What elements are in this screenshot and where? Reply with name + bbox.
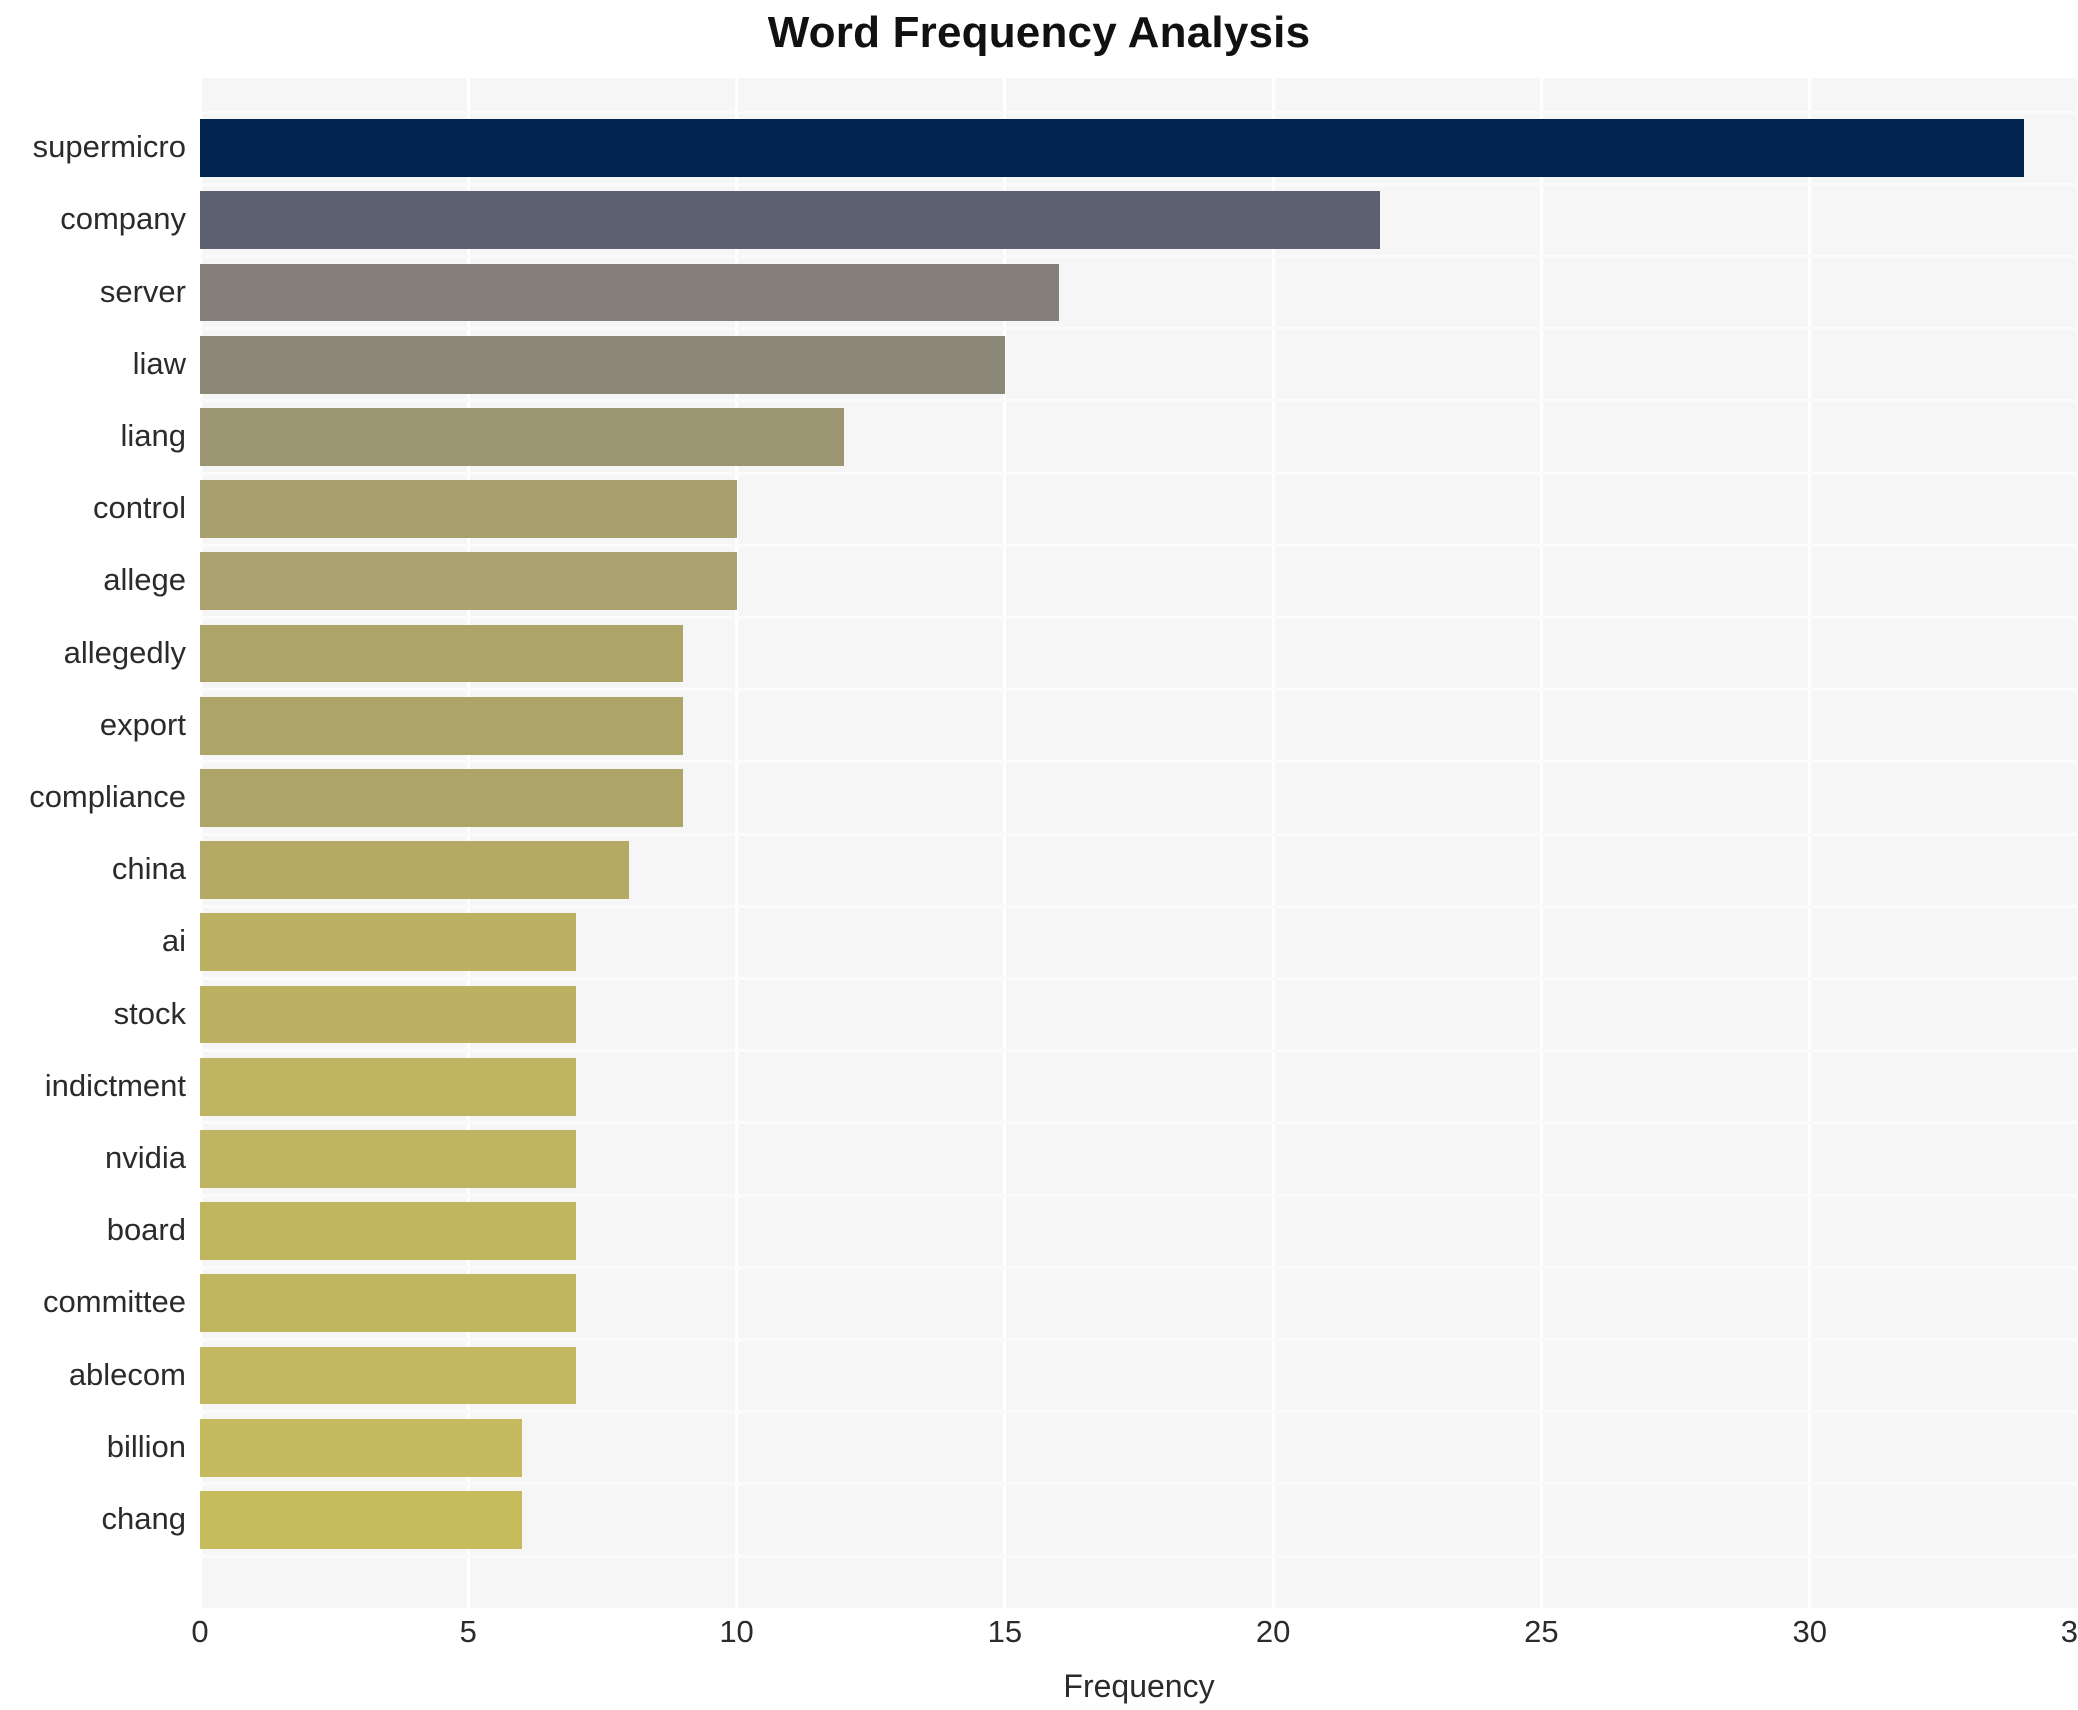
bar-row <box>200 119 2078 177</box>
bar-export[interactable] <box>200 697 683 755</box>
bar-committee[interactable] <box>200 1274 576 1332</box>
bars-layer <box>200 78 2078 1608</box>
bar-row <box>200 1419 2078 1477</box>
bar-control[interactable] <box>200 480 737 538</box>
bar-row <box>200 1058 2078 1116</box>
y-tick-label-export: export <box>0 707 186 743</box>
bar-server[interactable] <box>200 264 1059 322</box>
bar-liaw[interactable] <box>200 336 1005 394</box>
y-tick-label-board: board <box>0 1212 186 1248</box>
x-tick-label-20: 20 <box>1256 1614 1290 1650</box>
x-tick-label-0: 0 <box>191 1614 208 1650</box>
y-tick-label-stock: stock <box>0 996 186 1032</box>
bar-row <box>200 1202 2078 1260</box>
bar-row <box>200 264 2078 322</box>
bar-nvidia[interactable] <box>200 1130 576 1188</box>
y-tick-label-china: china <box>0 851 186 887</box>
y-tick-label-supermicro: supermicro <box>0 129 186 165</box>
bar-compliance[interactable] <box>200 769 683 827</box>
y-tick-label-liang: liang <box>0 418 186 454</box>
y-tick-label-server: server <box>0 274 186 310</box>
bar-row <box>200 986 2078 1044</box>
x-tick-label-25: 25 <box>1524 1614 1558 1650</box>
bar-row <box>200 480 2078 538</box>
y-tick-label-committee: committee <box>0 1284 186 1320</box>
x-tick-label-10: 10 <box>719 1614 753 1650</box>
word-frequency-chart: Word Frequency Analysis supermicrocompan… <box>0 0 2078 1710</box>
y-axis-tick-labels: supermicrocompanyserverliawliangcontrola… <box>0 78 186 1608</box>
y-tick-label-ai: ai <box>0 923 186 959</box>
bar-indictment[interactable] <box>200 1058 576 1116</box>
x-tick-label-35: 35 <box>2061 1614 2078 1650</box>
bar-row <box>200 697 2078 755</box>
bar-row <box>200 913 2078 971</box>
y-tick-label-billion: billion <box>0 1429 186 1465</box>
x-axis-title: Frequency <box>200 1668 2078 1705</box>
x-tick-label-5: 5 <box>460 1614 477 1650</box>
bar-row <box>200 336 2078 394</box>
chart-title: Word Frequency Analysis <box>0 8 2078 58</box>
bar-ai[interactable] <box>200 913 576 971</box>
bar-china[interactable] <box>200 841 629 899</box>
y-tick-label-nvidia: nvidia <box>0 1140 186 1176</box>
bar-row <box>200 1130 2078 1188</box>
bar-row <box>200 769 2078 827</box>
y-tick-label-allege: allege <box>0 562 186 598</box>
bar-supermicro[interactable] <box>200 119 2024 177</box>
bar-row <box>200 1274 2078 1332</box>
bar-row <box>200 408 2078 466</box>
x-tick-label-30: 30 <box>1792 1614 1826 1650</box>
bar-row <box>200 552 2078 610</box>
bar-row <box>200 841 2078 899</box>
bar-company[interactable] <box>200 191 1380 249</box>
bar-ablecom[interactable] <box>200 1347 576 1405</box>
bar-allegedly[interactable] <box>200 625 683 683</box>
y-tick-label-ablecom: ablecom <box>0 1357 186 1393</box>
bar-chang[interactable] <box>200 1491 522 1549</box>
x-axis-tick-labels: 05101520253035 <box>0 1614 2078 1664</box>
y-tick-label-compliance: compliance <box>0 779 186 815</box>
y-tick-label-chang: chang <box>0 1501 186 1537</box>
x-tick-label-15: 15 <box>988 1614 1022 1650</box>
bar-liang[interactable] <box>200 408 844 466</box>
bar-board[interactable] <box>200 1202 576 1260</box>
y-tick-label-allegedly: allegedly <box>0 635 186 671</box>
bar-row <box>200 1491 2078 1549</box>
plot-area <box>200 78 2078 1608</box>
y-tick-label-indictment: indictment <box>0 1068 186 1104</box>
y-tick-label-liaw: liaw <box>0 346 186 382</box>
bar-row <box>200 191 2078 249</box>
bar-row <box>200 625 2078 683</box>
y-tick-label-control: control <box>0 490 186 526</box>
y-tick-label-company: company <box>0 201 186 237</box>
bar-billion[interactable] <box>200 1419 522 1477</box>
bar-stock[interactable] <box>200 986 576 1044</box>
bar-allege[interactable] <box>200 552 737 610</box>
bar-row <box>200 1347 2078 1405</box>
